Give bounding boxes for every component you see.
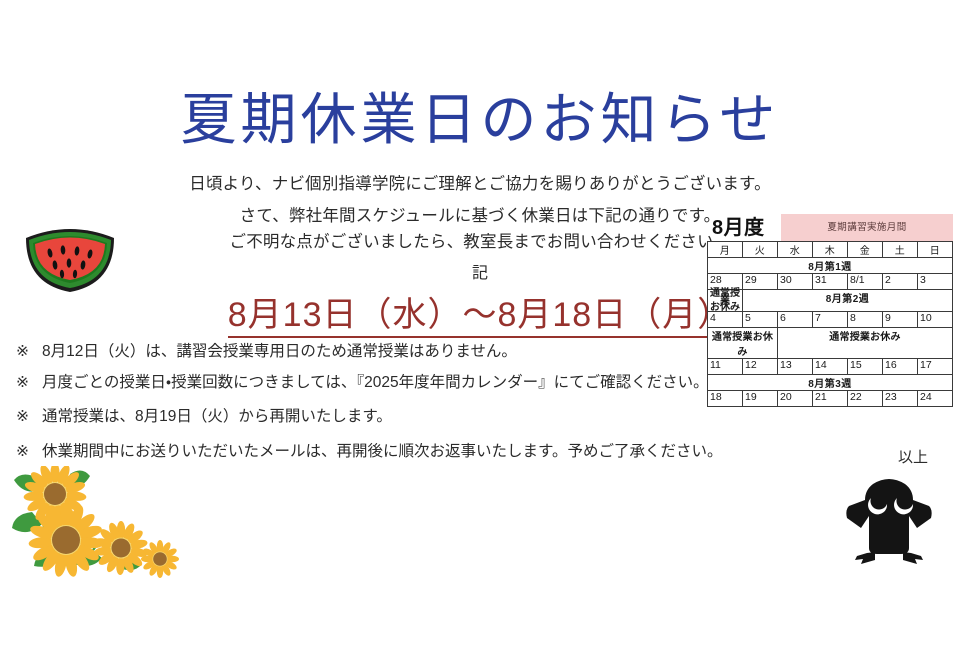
calendar-dow-row: 月 火 水 木 金 土 日 <box>708 242 953 258</box>
note-bullet-icon: ※ <box>16 344 42 360</box>
day-cell: 24 <box>918 391 953 407</box>
day-cell: 31 <box>813 274 848 290</box>
dow-sun: 日 <box>918 242 953 258</box>
dow-sat: 土 <box>883 242 918 258</box>
day-cell: 14 <box>813 359 848 375</box>
calendar-week2-label-row: 通常授業 お休み 8月第2週 <box>708 290 953 312</box>
day-cell: 13 <box>778 359 813 375</box>
day-cell: 22 <box>848 391 883 407</box>
dow-thu: 木 <box>813 242 848 258</box>
day-cell: 5 <box>743 312 778 328</box>
note-bullet-icon: ※ <box>16 409 42 425</box>
day-cell: 6 <box>778 312 813 328</box>
calendar-week2-days-row: 4 5 6 7 8 9 10 <box>708 312 953 328</box>
day-cell: 7 <box>813 312 848 328</box>
august-calendar: 夏期講習実施月間 8月度 月 火 水 木 金 土 日 8月第1週 28 29 <box>707 214 953 407</box>
day-cell: 21 <box>813 391 848 407</box>
week1-label: 8月第1週 <box>708 258 953 274</box>
holiday-label-right: 通常授業お休み <box>778 328 953 359</box>
day-cell: 30 <box>778 274 813 290</box>
day-cell: 4 <box>708 312 743 328</box>
notes-list: ※ 8月12日（火）は、講習会授業専用日のため通常授業はありません。 ※ 月度ご… <box>16 344 716 459</box>
day-cell: 16 <box>883 359 918 375</box>
day-cell: 15 <box>848 359 883 375</box>
dow-tue: 火 <box>743 242 778 258</box>
day-cell: 8 <box>848 312 883 328</box>
day-cell: 18 <box>708 391 743 407</box>
calendar-table: 月 火 水 木 金 土 日 8月第1週 28 29 30 31 8/1 2 3 <box>707 241 953 407</box>
calendar-week3-days-row: 11 12 13 14 15 16 17 <box>708 359 953 375</box>
note-text: 休業期間中にお送りいただいたメールは、再開後に順次お返事いたします。予めご了承く… <box>42 444 722 460</box>
dow-mon: 月 <box>708 242 743 258</box>
watermelon-icon <box>22 222 118 296</box>
note-text: 8月12日（火）は、講習会授業専用日のため通常授業はありません。 <box>42 344 517 360</box>
closure-date-range: 8月13日（水）〜8月18日（月） <box>228 298 732 338</box>
summer-course-banner: 夏期講習実施月間 <box>781 214 953 241</box>
calendar-header: 夏期講習実施月間 8月度 <box>707 214 953 241</box>
day-cell: 10 <box>918 312 953 328</box>
calendar-week4-days-row: 18 19 20 21 22 23 24 <box>708 391 953 407</box>
sunflowers-icon <box>8 466 198 588</box>
dow-wed: 水 <box>778 242 813 258</box>
note-text: 月度ごとの授業日・授業回数につきましては、『2025年度年間カレンダー』にてご確… <box>42 375 709 391</box>
note-item: ※ 通常授業は、8月19日（火）から再開いたします。 <box>16 409 716 425</box>
summer-course-banner-text: 夏期講習実施月間 <box>781 214 953 241</box>
crow-silhouette-icon <box>843 472 935 566</box>
dow-fri: 金 <box>848 242 883 258</box>
note-text: 通常授業は、8月19日（火）から再開いたします。 <box>42 409 392 425</box>
note-bullet-icon: ※ <box>16 375 42 391</box>
day-cell: 11 <box>708 359 743 375</box>
day-cell: 3 <box>918 274 953 290</box>
week2-label: 8月第2週 <box>743 290 953 312</box>
calendar-week1-days-row: 28 29 30 31 8/1 2 3 <box>708 274 953 290</box>
day-cell: 19 <box>743 391 778 407</box>
holiday-tag-small: 通常授業 お休み <box>708 290 743 312</box>
intro-line-1: 日頃より、ナビ個別指導学院にご理解とご協力を賜りありがとうございます。 <box>0 176 960 193</box>
calendar-week3-label-row: 8月第3週 <box>708 375 953 391</box>
calendar-month-label: 8月度 <box>712 216 765 240</box>
day-cell: 23 <box>883 391 918 407</box>
calendar-week1-label-row: 8月第1週 <box>708 258 953 274</box>
day-cell: 17 <box>918 359 953 375</box>
day-cell: 12 <box>743 359 778 375</box>
day-cell: 8/1 <box>848 274 883 290</box>
note-item: ※ 月度ごとの授業日・授業回数につきましては、『2025年度年間カレンダー』にて… <box>16 375 716 391</box>
closing-text: 以上 <box>898 450 928 465</box>
page-title: 夏期休業日のお知らせ <box>0 92 960 148</box>
note-bullet-icon: ※ <box>16 444 42 460</box>
note-item: ※ 8月12日（火）は、講習会授業専用日のため通常授業はありません。 <box>16 344 716 360</box>
day-cell: 29 <box>743 274 778 290</box>
day-cell: 2 <box>883 274 918 290</box>
week3-label: 8月第3週 <box>708 375 953 391</box>
holiday-label-left: 通常授業お休み <box>708 328 778 359</box>
day-cell: 20 <box>778 391 813 407</box>
day-cell: 9 <box>883 312 918 328</box>
note-item: ※ 休業期間中にお送りいただいたメールは、再開後に順次お返事いたします。予めご了… <box>16 444 716 460</box>
calendar-holiday-label-row: 通常授業お休み 通常授業お休み <box>708 328 953 359</box>
